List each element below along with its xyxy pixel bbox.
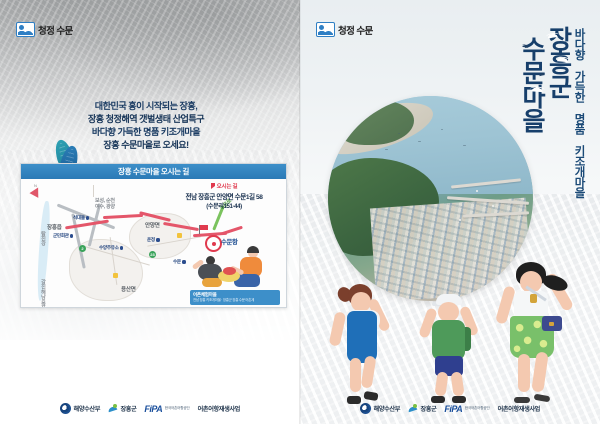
map-route-segment-2 [103, 214, 143, 219]
logo-project: 어촌어항재생사업 [198, 404, 240, 413]
footer-logos-left: 해양수산부 장흥군 FiPA 한국어촌어항공단 어촌어항재생사업 [0, 403, 300, 414]
logo-fipa: FiPA 한국어촌어항공단 [144, 404, 189, 414]
government-taegeuk-icon [60, 403, 71, 414]
tourist-girl [334, 284, 396, 402]
directions-tag-label: 오시는 길 [217, 182, 238, 190]
brand-logo-right: 청정 수문 [316, 22, 373, 37]
fipa-wordmark-icon: FiPA [144, 404, 162, 414]
logo-jangheung: 장흥군 [108, 404, 136, 413]
headline-line-3: 바다향 가득한 명품 키조개마을 [0, 126, 292, 139]
map-poi-label: 군민회관 [53, 233, 69, 239]
map-poi-unjeong[interactable]: 운정 [147, 237, 160, 243]
logo-project: 어촌어항재생사업 [498, 404, 540, 413]
map-route-shield-2: 2 [79, 245, 86, 252]
caption-subtitle: 전남 장흥 키조개마을 · 장흥군 장흥 수문 어촌계 [193, 298, 277, 303]
tourist-woman [502, 262, 578, 402]
logo-jangheung-label: 장흥군 [421, 404, 437, 413]
map-direction-arrow [93, 185, 94, 197]
cover-title-line-2: 수문마을 [520, 36, 545, 132]
headline-line-1: 대한민국 흥이 시작되는 장흥, [0, 100, 292, 113]
directions-tag: 오시는 길 [168, 182, 280, 190]
logo-ministry: 해양수산부 [60, 403, 100, 414]
destination-label: 수문항 [221, 237, 237, 246]
map-poi-suyang-gas[interactable]: 수양주유소 [99, 245, 123, 251]
logo-fipa-sub: 한국어촌어항공단 [465, 406, 490, 411]
footer-logos-right: 해양수산부 장흥군 FiPA 한국어촌어항공단 어촌어항재생사업 [300, 403, 600, 414]
address-block: 오시는 길 전남 장흥군 안양면 수문1길 58 (수문리151-44) [168, 182, 280, 210]
photo-boat [492, 205, 494, 207]
map-poi-label: 수문 [173, 259, 181, 265]
map-region-label-yongsan: 용산면 [121, 285, 136, 293]
flag-icon [211, 183, 215, 189]
map-route-marker-yellow-2 [177, 233, 182, 238]
logo-ministry: 해양수산부 [360, 403, 400, 414]
jangheung-swoosh-icon [408, 404, 418, 413]
map-canvas[interactable]: N 탐진강 강진 해남 목포 방면 [21, 179, 286, 307]
map-region-label-anyang: 안양면 [145, 221, 160, 229]
map-card-header: 장흥 수문마을 오시는 길 [21, 164, 286, 179]
logo-jangheung-label: 장흥군 [121, 404, 137, 413]
brand-logo: 청정 수문 [16, 22, 73, 37]
photo-aquaculture-net [441, 129, 444, 130]
map-photo-caption: 어촌체험마을 전남 장흥 키조개마을 · 장흥군 장흥 수문 어촌계 [190, 290, 280, 305]
headline-line-2: 장흥 청정해역 갯벌생태 산업특구 [0, 113, 292, 126]
tourists-illustration [316, 252, 588, 402]
right-page: 청정 수문 바다향 가득한 명품 키조개마을 장흥군 수문마을 [300, 0, 600, 424]
brand-logo-text: 청정 수문 [38, 23, 73, 37]
fipa-wordmark-icon: FiPA [444, 404, 462, 414]
jangheung-swoosh-icon [108, 404, 118, 413]
cover-subtitle: 바다향 가득한 명품 키조개마을 [573, 28, 585, 198]
left-page: 청정 수문 대한민국 흥이 시작되는 장흥, 장흥 청정해역 갯벌생태 산업특구… [0, 0, 300, 424]
logo-fipa: FiPA 한국어촌어항공단 [444, 404, 489, 414]
government-taegeuk-icon [360, 403, 371, 414]
directions-map-card: 장흥 수문마을 오시는 길 N 탐진강 강진 해남 목포 방면 [20, 163, 287, 308]
address-line-2: (수문리151-44) [168, 201, 280, 210]
headline-block: 대한민국 흥이 시작되는 장흥, 장흥 청정해역 갯벌생태 산업특구 바다향 가… [0, 100, 292, 152]
tourist-boy [424, 294, 482, 402]
logo-project-label: 어촌어항재생사업 [198, 404, 240, 413]
map-river-label-2: 강진 해남 목포 방면 [40, 279, 47, 308]
brochure-spread: 청정 수문 대한민국 흥이 시작되는 장흥, 장흥 청정해역 갯벌생태 산업특구… [0, 0, 600, 424]
map-direction-note-2: 여수, 광양 [95, 203, 115, 210]
map-card-title: 장흥 수문마을 오시는 길 [118, 166, 189, 177]
map-poi-sumun[interactable]: 수문 [173, 259, 186, 265]
logo-project-label: 어촌어항재생사업 [498, 404, 540, 413]
cover-title: 바다향 가득한 명품 키조개마을 장흥군 수문마을 [520, 26, 585, 198]
map-people-illustration [192, 248, 278, 290]
logo-jangheung: 장흥군 [408, 404, 436, 413]
map-poi-label: 석대들 [73, 215, 85, 221]
map-poi-gunmin-hall[interactable]: 군민회관 [53, 233, 73, 239]
logo-ministry-label: 해양수산부 [374, 404, 400, 413]
map-route-segment-6 [221, 226, 243, 236]
headline-line-4: 장흥 수문마을로 오세요! [0, 139, 292, 152]
map-route-marker-yellow-1 [113, 273, 118, 278]
address-line-1: 전남 장흥군 안양면 수문1길 58 [168, 191, 280, 201]
map-poi-label: 운정 [147, 237, 155, 243]
map-region-label-jangheung: 장흥읍 [47, 223, 62, 231]
brand-logo-text: 청정 수문 [338, 23, 373, 37]
compass-icon: N [29, 184, 43, 198]
village-wave-icon [16, 22, 35, 37]
village-wave-icon [316, 22, 335, 37]
map-poi-seokdae[interactable]: 석대들 [73, 215, 89, 221]
logo-ministry-label: 해양수산부 [74, 404, 100, 413]
map-poi-label: 수양주유소 [99, 245, 119, 251]
logo-fipa-sub: 한국어촌어항공단 [165, 406, 190, 411]
page-spine-divider [299, 0, 301, 424]
map-river-label: 탐진강 [40, 231, 47, 245]
map-route-shield-23: 23 [149, 251, 156, 258]
